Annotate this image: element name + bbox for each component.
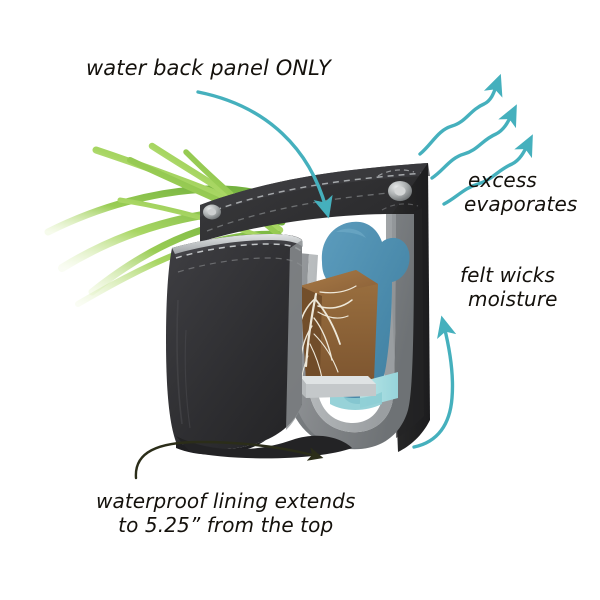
label-waterproof-line2: to 5.25” from the top — [96, 513, 355, 537]
grommet-left — [203, 205, 221, 220]
label-excess-evaporates: excess evaporates — [468, 168, 577, 217]
label-excess-line2: evaporates — [464, 192, 577, 216]
label-felt-line2: moisture — [468, 287, 558, 311]
label-water-back-panel: water back panel ONLY — [86, 56, 331, 82]
grommet-right — [388, 181, 412, 201]
label-waterproof-line1: waterproof lining extends — [96, 489, 355, 513]
label-felt-line1: felt wicks — [460, 263, 555, 287]
label-excess-line1: excess — [468, 168, 537, 192]
diagram-canvas: water back panel ONLY excess evaporates … — [0, 0, 600, 600]
soil-block — [298, 270, 378, 380]
felt-front-pocket — [166, 234, 303, 455]
label-waterproof-lining: waterproof lining extends to 5.25” from … — [96, 489, 355, 538]
label-felt-wicks-moisture: felt wicks moisture — [460, 263, 558, 312]
